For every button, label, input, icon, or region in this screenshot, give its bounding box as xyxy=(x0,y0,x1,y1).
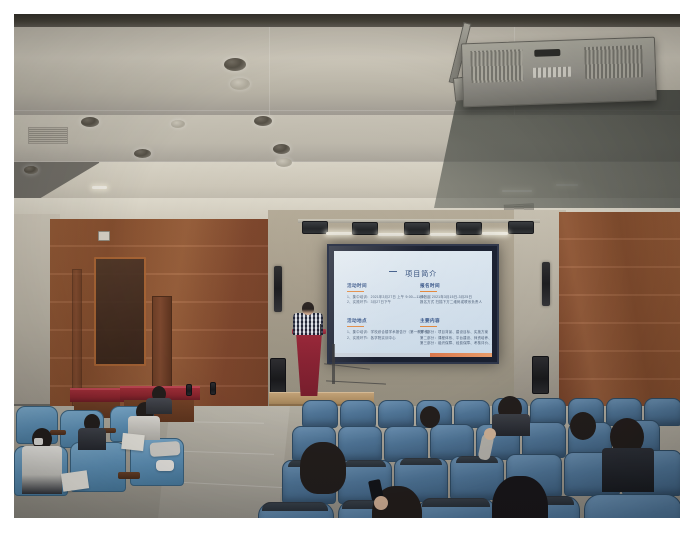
slide-section-heading: 活动时间 xyxy=(347,283,413,289)
ceiling-downlight-icon xyxy=(273,144,290,154)
ceiling-downlight-icon xyxy=(24,166,38,174)
seat xyxy=(384,426,428,462)
wall-speaker-left xyxy=(274,266,282,312)
slide-heading-underline xyxy=(347,291,364,292)
table-microphone xyxy=(186,384,192,396)
seated-person-leg xyxy=(150,441,181,457)
slide-section-line: 报名方式 扫描下方二维码或联系负责人 xyxy=(420,300,486,305)
spotlight-beam xyxy=(378,233,404,236)
slide-section-line: 2、实践环节：3月27日下午 xyxy=(347,300,413,305)
ceiling-seam-2 xyxy=(269,27,270,115)
ceiling-strip-light-icon xyxy=(92,186,107,189)
slide-title-dash-icon xyxy=(389,271,397,272)
ceiling-dark-band xyxy=(14,14,680,27)
handout-paper xyxy=(121,433,145,451)
slide-heading-underline xyxy=(347,326,364,327)
spotlight-beam xyxy=(430,233,456,236)
presenter-torso xyxy=(293,313,323,335)
seat-armrest xyxy=(50,430,66,435)
person-torso xyxy=(602,448,654,492)
acoustic-panel-left xyxy=(94,257,146,366)
person-head xyxy=(300,442,346,494)
ceiling-downlight-icon xyxy=(230,78,250,90)
presentation-slide: 项目简介 活动时间 1、集中培训：2021年3月27日 上午 9:00—11:3… xyxy=(334,251,492,357)
front-table-left xyxy=(70,388,126,402)
seat-headrest-trim xyxy=(400,458,442,465)
projector-lens-icon xyxy=(534,49,560,57)
seat xyxy=(302,400,338,428)
ceiling-downlight-icon xyxy=(171,120,185,128)
slide-section-heading: 活动地点 xyxy=(347,318,413,324)
stage-spotlight-icon xyxy=(302,221,328,234)
wall-speaker-right xyxy=(542,262,550,306)
table-microphone xyxy=(210,382,216,395)
ceiling-downlight-icon xyxy=(134,149,151,158)
ceiling-projector xyxy=(461,37,657,108)
white-sneaker-icon xyxy=(156,460,174,471)
slide-title-row: 项目简介 xyxy=(334,263,492,281)
slide-heading-underline xyxy=(420,291,437,292)
seat xyxy=(340,400,376,428)
projection-screen: 项目简介 活动时间 1、集中培训：2021年3月27日 上午 9:00—11:3… xyxy=(327,244,499,364)
stage-spotlight-icon xyxy=(508,221,534,234)
ceiling-downlight-icon xyxy=(254,116,272,126)
emergency-light-icon xyxy=(98,231,110,241)
side-door-far-left xyxy=(72,269,82,406)
person-head xyxy=(570,412,596,440)
person-torso xyxy=(78,428,106,450)
ceiling-faint-text-right xyxy=(484,15,486,21)
wood-panel-wall-right xyxy=(559,212,680,408)
projector-soffit-shadow xyxy=(434,90,680,208)
person-hand xyxy=(374,496,388,510)
image-frame: 项目简介 活动时间 1、集中培训：2021年3月27日 上午 9:00—11:3… xyxy=(0,0,696,533)
ceiling-faint-text-center xyxy=(344,15,346,21)
floor-cable xyxy=(332,344,335,384)
handout-paper xyxy=(61,470,89,491)
ceiling-downlight-icon xyxy=(276,158,292,167)
ceiling-air-vent xyxy=(28,127,68,144)
slide-heading-underline xyxy=(420,326,437,327)
seat-headrest-trim xyxy=(422,498,490,507)
slide-column-left: 活动时间 1、集中培训：2021年3月27日 上午 9:00—11:30 2、实… xyxy=(347,283,413,341)
person-head xyxy=(420,406,440,428)
stage-spotlight-icon xyxy=(456,222,482,235)
stage-spotlight-icon xyxy=(352,222,378,235)
seat xyxy=(584,494,680,518)
person-hand xyxy=(484,428,496,440)
presenter-head xyxy=(302,302,314,315)
seat-headrest-trim xyxy=(344,460,386,467)
slide-section-heading: 主要内容 xyxy=(420,318,486,324)
ceiling-downlight-icon xyxy=(224,58,246,71)
projector-vent-grill xyxy=(470,49,523,83)
slide-title: 项目简介 xyxy=(405,269,437,279)
slide-section-line: 2、实践环节：各学院实训中心 xyxy=(347,336,413,341)
stage-spotlight-icon xyxy=(404,222,430,235)
seat-armrest xyxy=(118,472,140,479)
floor-speaker-right xyxy=(532,356,549,394)
projector-vent-grill xyxy=(584,45,643,79)
seat xyxy=(430,424,474,460)
person-torso xyxy=(22,446,62,494)
slide-section-heading: 报名时间 xyxy=(420,283,486,289)
projector-brand-label xyxy=(533,67,571,78)
ceiling-faint-text-left xyxy=(44,15,46,21)
spotlight-beam xyxy=(326,232,352,235)
person-torso xyxy=(146,398,172,414)
slide-footer-accent-bar xyxy=(430,353,492,357)
seat xyxy=(378,400,414,428)
slide-column-right: 报名时间 即日起 2021年3月15日-3月25日 报名方式 扫描下方二维码或联… xyxy=(420,283,486,346)
person-torso xyxy=(492,414,530,436)
seat-headrest-trim xyxy=(456,456,498,463)
slide-section-line: 第三部分：组织保障、经费保障、考核评价、成果推广 xyxy=(420,341,486,346)
face-mask-icon xyxy=(34,438,43,445)
floor-speaker-left xyxy=(270,358,286,394)
lecture-hall-photograph: 项目简介 活动时间 1、集中培训：2021年3月27日 上午 9:00—11:3… xyxy=(14,14,680,518)
seat-headrest-trim xyxy=(262,502,328,511)
spotlight-beam xyxy=(482,232,508,235)
ceiling-downlight-icon xyxy=(81,117,99,127)
microphone-stand-icon xyxy=(320,324,321,336)
